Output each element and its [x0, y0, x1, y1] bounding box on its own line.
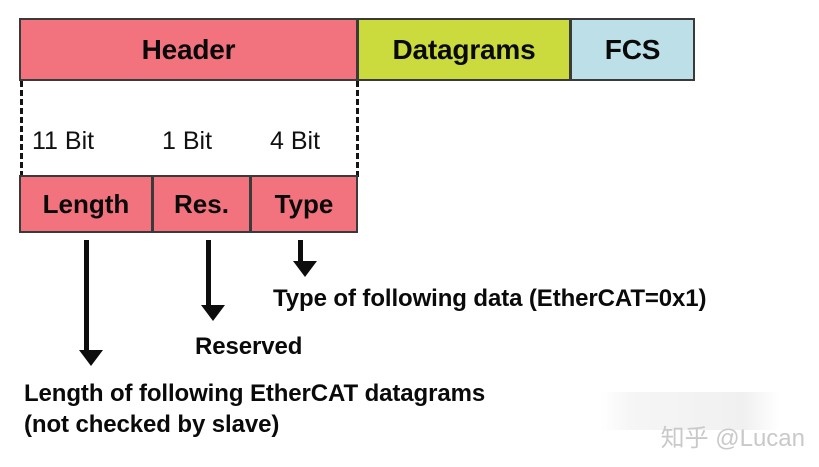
- header-subfield-type-label: Type: [275, 189, 334, 220]
- expansion-guide-right: [356, 81, 359, 177]
- callout-text-length: Length of following EtherCAT datagrams (…: [24, 378, 485, 440]
- expansion-guide-left: [20, 81, 23, 177]
- frame-field-datagrams: Datagrams: [357, 18, 571, 81]
- callout-arrow-type-icon: [298, 240, 303, 262]
- watermark-attribution: 知乎 @Lucan: [661, 418, 805, 453]
- callout-text-length-line1: Length of following EtherCAT datagrams: [24, 378, 485, 409]
- frame-field-fcs: FCS: [570, 18, 695, 81]
- callout-text-type: Type of following data (EtherCAT=0x1): [273, 285, 706, 313]
- header-subfield-res: Res.: [152, 175, 251, 233]
- callout-arrow-reserved-icon: [206, 240, 211, 306]
- frame-field-header-label: Header: [142, 34, 236, 66]
- callout-arrow-length-icon: [84, 240, 89, 351]
- header-subfield-length: Length: [19, 175, 153, 233]
- callout-text-reserved: Reserved: [195, 333, 302, 361]
- bit-width-label-res: 1 Bit: [162, 127, 212, 156]
- bit-width-label-type: 4 Bit: [270, 127, 320, 156]
- header-subfield-type: Type: [250, 175, 358, 233]
- bit-width-label-length: 11 Bit: [32, 127, 94, 156]
- frame-field-datagrams-label: Datagrams: [393, 34, 536, 66]
- frame-field-fcs-label: FCS: [605, 34, 660, 66]
- frame-field-header: Header: [19, 18, 358, 81]
- ethercat-frame-diagram: Header Datagrams FCS 11 Bit 1 Bit 4 Bit …: [0, 0, 819, 467]
- header-subfield-length-label: Length: [43, 189, 130, 220]
- callout-text-length-line2: (not checked by slave): [24, 409, 485, 440]
- header-subfield-res-label: Res.: [174, 189, 229, 220]
